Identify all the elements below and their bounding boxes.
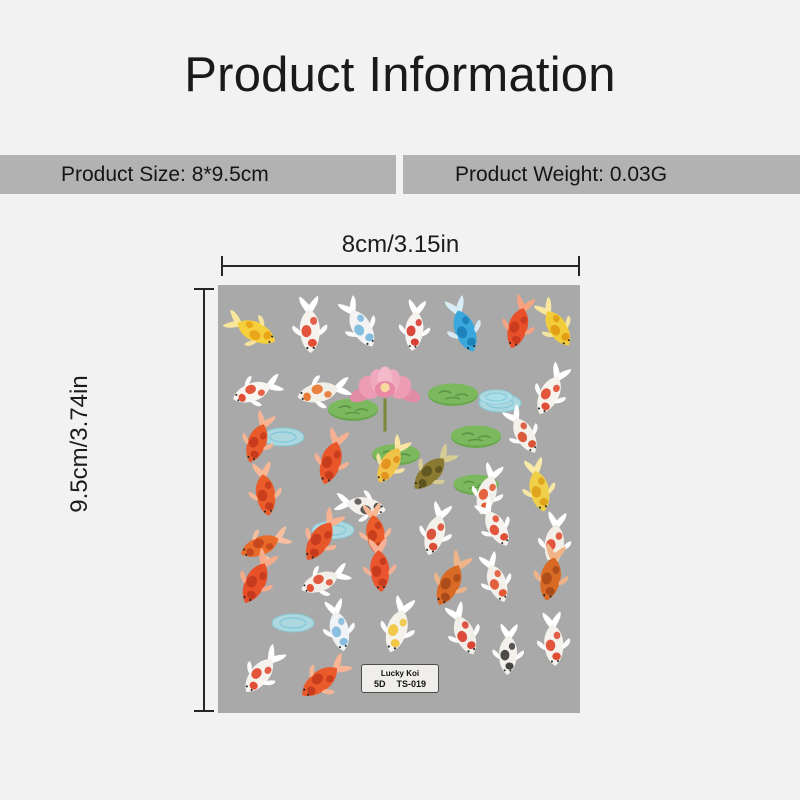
koi-artwork [218, 285, 580, 713]
dimension-height-cap-top [194, 288, 214, 290]
product-code-label: Lucky Koi 5D TS-019 [361, 664, 439, 693]
product-label-prefix: 5D [374, 679, 386, 690]
dimension-height-cap-bottom [194, 710, 214, 712]
dimension-width-cap-left [221, 256, 223, 276]
spec-size-label: Product Size: 8*9.5cm [61, 163, 269, 187]
dimension-width-label: 8cm/3.15in [221, 231, 580, 259]
spec-bar-weight: Product Weight: 0.03G [403, 155, 800, 194]
page-title: Product Information [0, 46, 800, 104]
product-label-code-row: 5D TS-019 [374, 679, 426, 690]
spec-weight-label: Product Weight: 0.03G [455, 163, 667, 187]
product-label-code: TS-019 [397, 679, 427, 690]
dimension-width-line [221, 265, 580, 267]
koi-sticker-sheet: Lucky Koi 5D TS-019 [218, 285, 580, 713]
dimension-width-cap-right [578, 256, 580, 276]
dimension-height-label: 9.5cm/3.74in [66, 304, 94, 584]
spec-bar-size: Product Size: 8*9.5cm [0, 155, 396, 194]
product-label-title: Lucky Koi [381, 668, 419, 679]
dimension-height-line [203, 288, 205, 712]
product-information-page: Product Information Product Size: 8*9.5c… [0, 0, 800, 800]
